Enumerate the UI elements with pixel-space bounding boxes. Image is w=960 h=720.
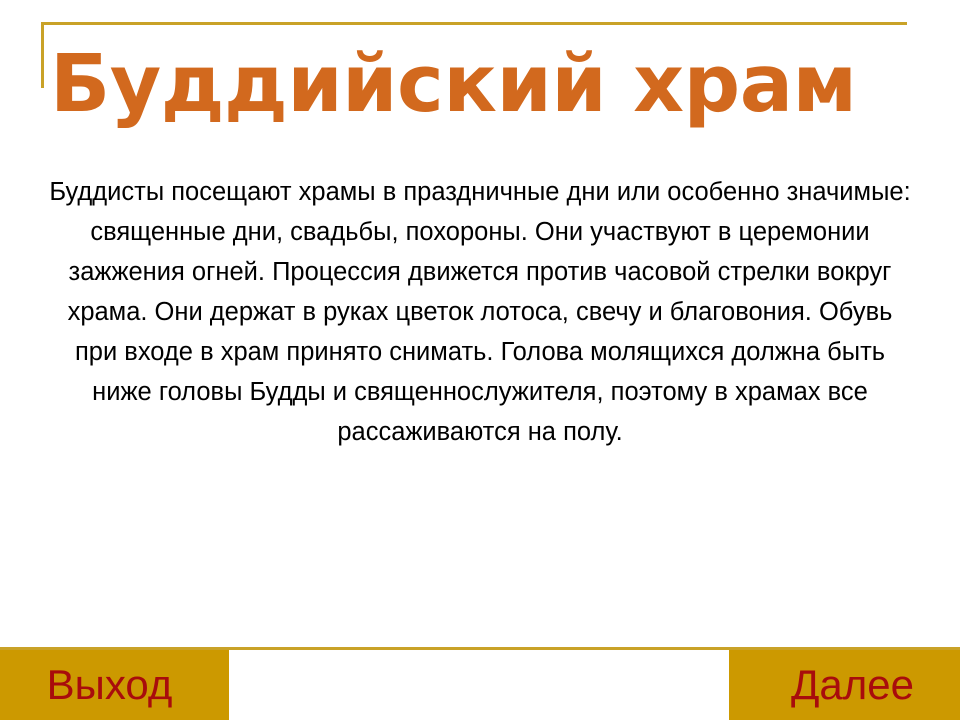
slide-canvas: Буддийский храм Буддисты посещают храмы … xyxy=(0,0,960,720)
body-paragraph: Буддисты посещают храмы в праздничные дн… xyxy=(48,172,912,452)
title-accent-horizontal-rule xyxy=(41,22,907,25)
title-accent-vertical-rule xyxy=(41,22,44,88)
page-title: Буддийский храм xyxy=(50,30,910,140)
exit-button[interactable]: Выход xyxy=(0,650,229,720)
next-button[interactable]: Далее xyxy=(729,650,960,720)
